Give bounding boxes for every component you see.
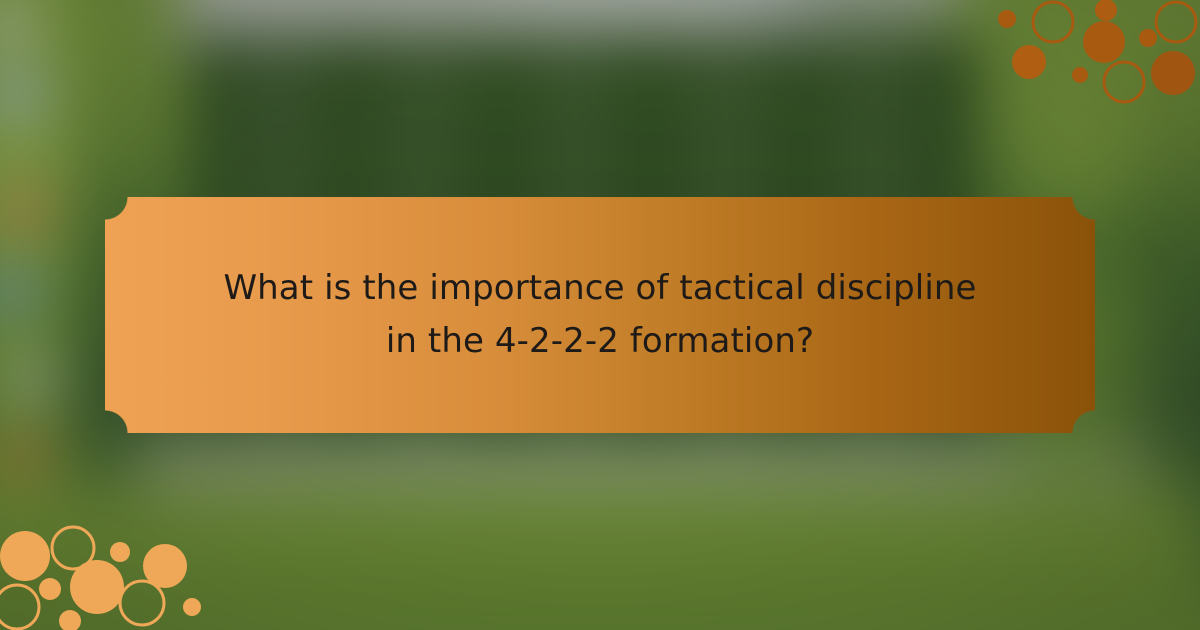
question-card-image: What is the importance of tactical disci… (0, 0, 1200, 630)
question-line-2: in the 4-2-2-2 formation? (386, 321, 814, 361)
question-line-1: What is the importance of tactical disci… (223, 268, 976, 308)
question-title: What is the importance of tactical disci… (223, 262, 976, 367)
question-card: What is the importance of tactical disci… (105, 197, 1095, 433)
